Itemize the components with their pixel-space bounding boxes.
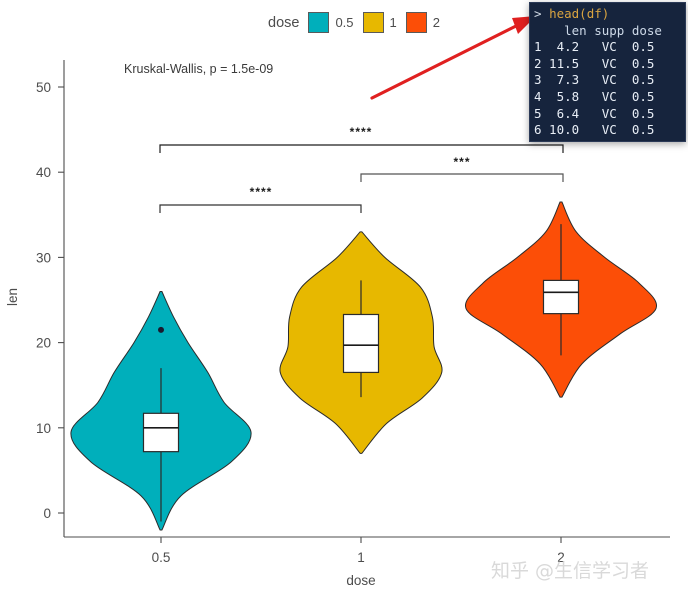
significance-bracket-1-vs-2: *** <box>361 155 563 182</box>
console-table-row: 3 7.3 VC 0.5 <box>534 72 681 89</box>
y-tick-label: 30 <box>36 250 51 265</box>
y-axis-ticks: 0 10 20 30 40 50 <box>36 80 64 521</box>
y-tick-label: 40 <box>36 165 51 180</box>
console-table-row: 6 10.0 VC 0.5 <box>534 122 681 139</box>
console-table-row: 2 11.5 VC 0.5 <box>534 56 681 73</box>
outlier-point <box>158 327 164 333</box>
boxplot-box <box>144 413 179 451</box>
red-arrow-annotation <box>372 16 536 98</box>
y-tick-label: 50 <box>36 80 51 95</box>
console-table-row: 5 6.4 VC 0.5 <box>534 106 681 123</box>
violin-series-layer <box>71 202 657 530</box>
watermark: 知乎 @生信学习者 <box>491 556 649 583</box>
violin-group-1 <box>280 232 442 454</box>
boxplot-box <box>344 314 379 372</box>
violin-plot-figure: dose 0.5 1 2 Kruskal-Wallis, p = 1.5e-09 <box>0 0 688 592</box>
y-tick-label: 0 <box>43 506 51 521</box>
console-command: head(df) <box>549 6 609 21</box>
violin-group-2 <box>465 202 656 397</box>
x-tick-label: 0.5 <box>152 550 171 565</box>
console-prompt: > <box>534 6 542 21</box>
y-tick-label: 10 <box>36 421 51 436</box>
x-tick-label: 1 <box>357 550 365 565</box>
significance-bracket-0-5-vs-1: **** <box>160 185 361 213</box>
console-table-row: 4 5.8 VC 0.5 <box>534 89 681 106</box>
console-table-header: len supp dose <box>534 23 681 40</box>
r-console-overlay: > head(df) len supp dose 1 4.2 VC 0.5 2 … <box>529 2 686 142</box>
significance-label: **** <box>250 185 273 199</box>
violin-group-0.5 <box>71 291 251 530</box>
console-table-row: 1 4.2 VC 0.5 <box>534 39 681 56</box>
y-tick-label: 20 <box>36 336 51 351</box>
significance-label: **** <box>350 125 373 139</box>
y-axis-title: len <box>5 288 20 306</box>
significance-label: *** <box>453 155 470 169</box>
x-axis-title: dose <box>346 573 375 588</box>
significance-bracket-0-5-vs-2: **** <box>160 125 563 153</box>
boxplot-box <box>544 280 579 313</box>
